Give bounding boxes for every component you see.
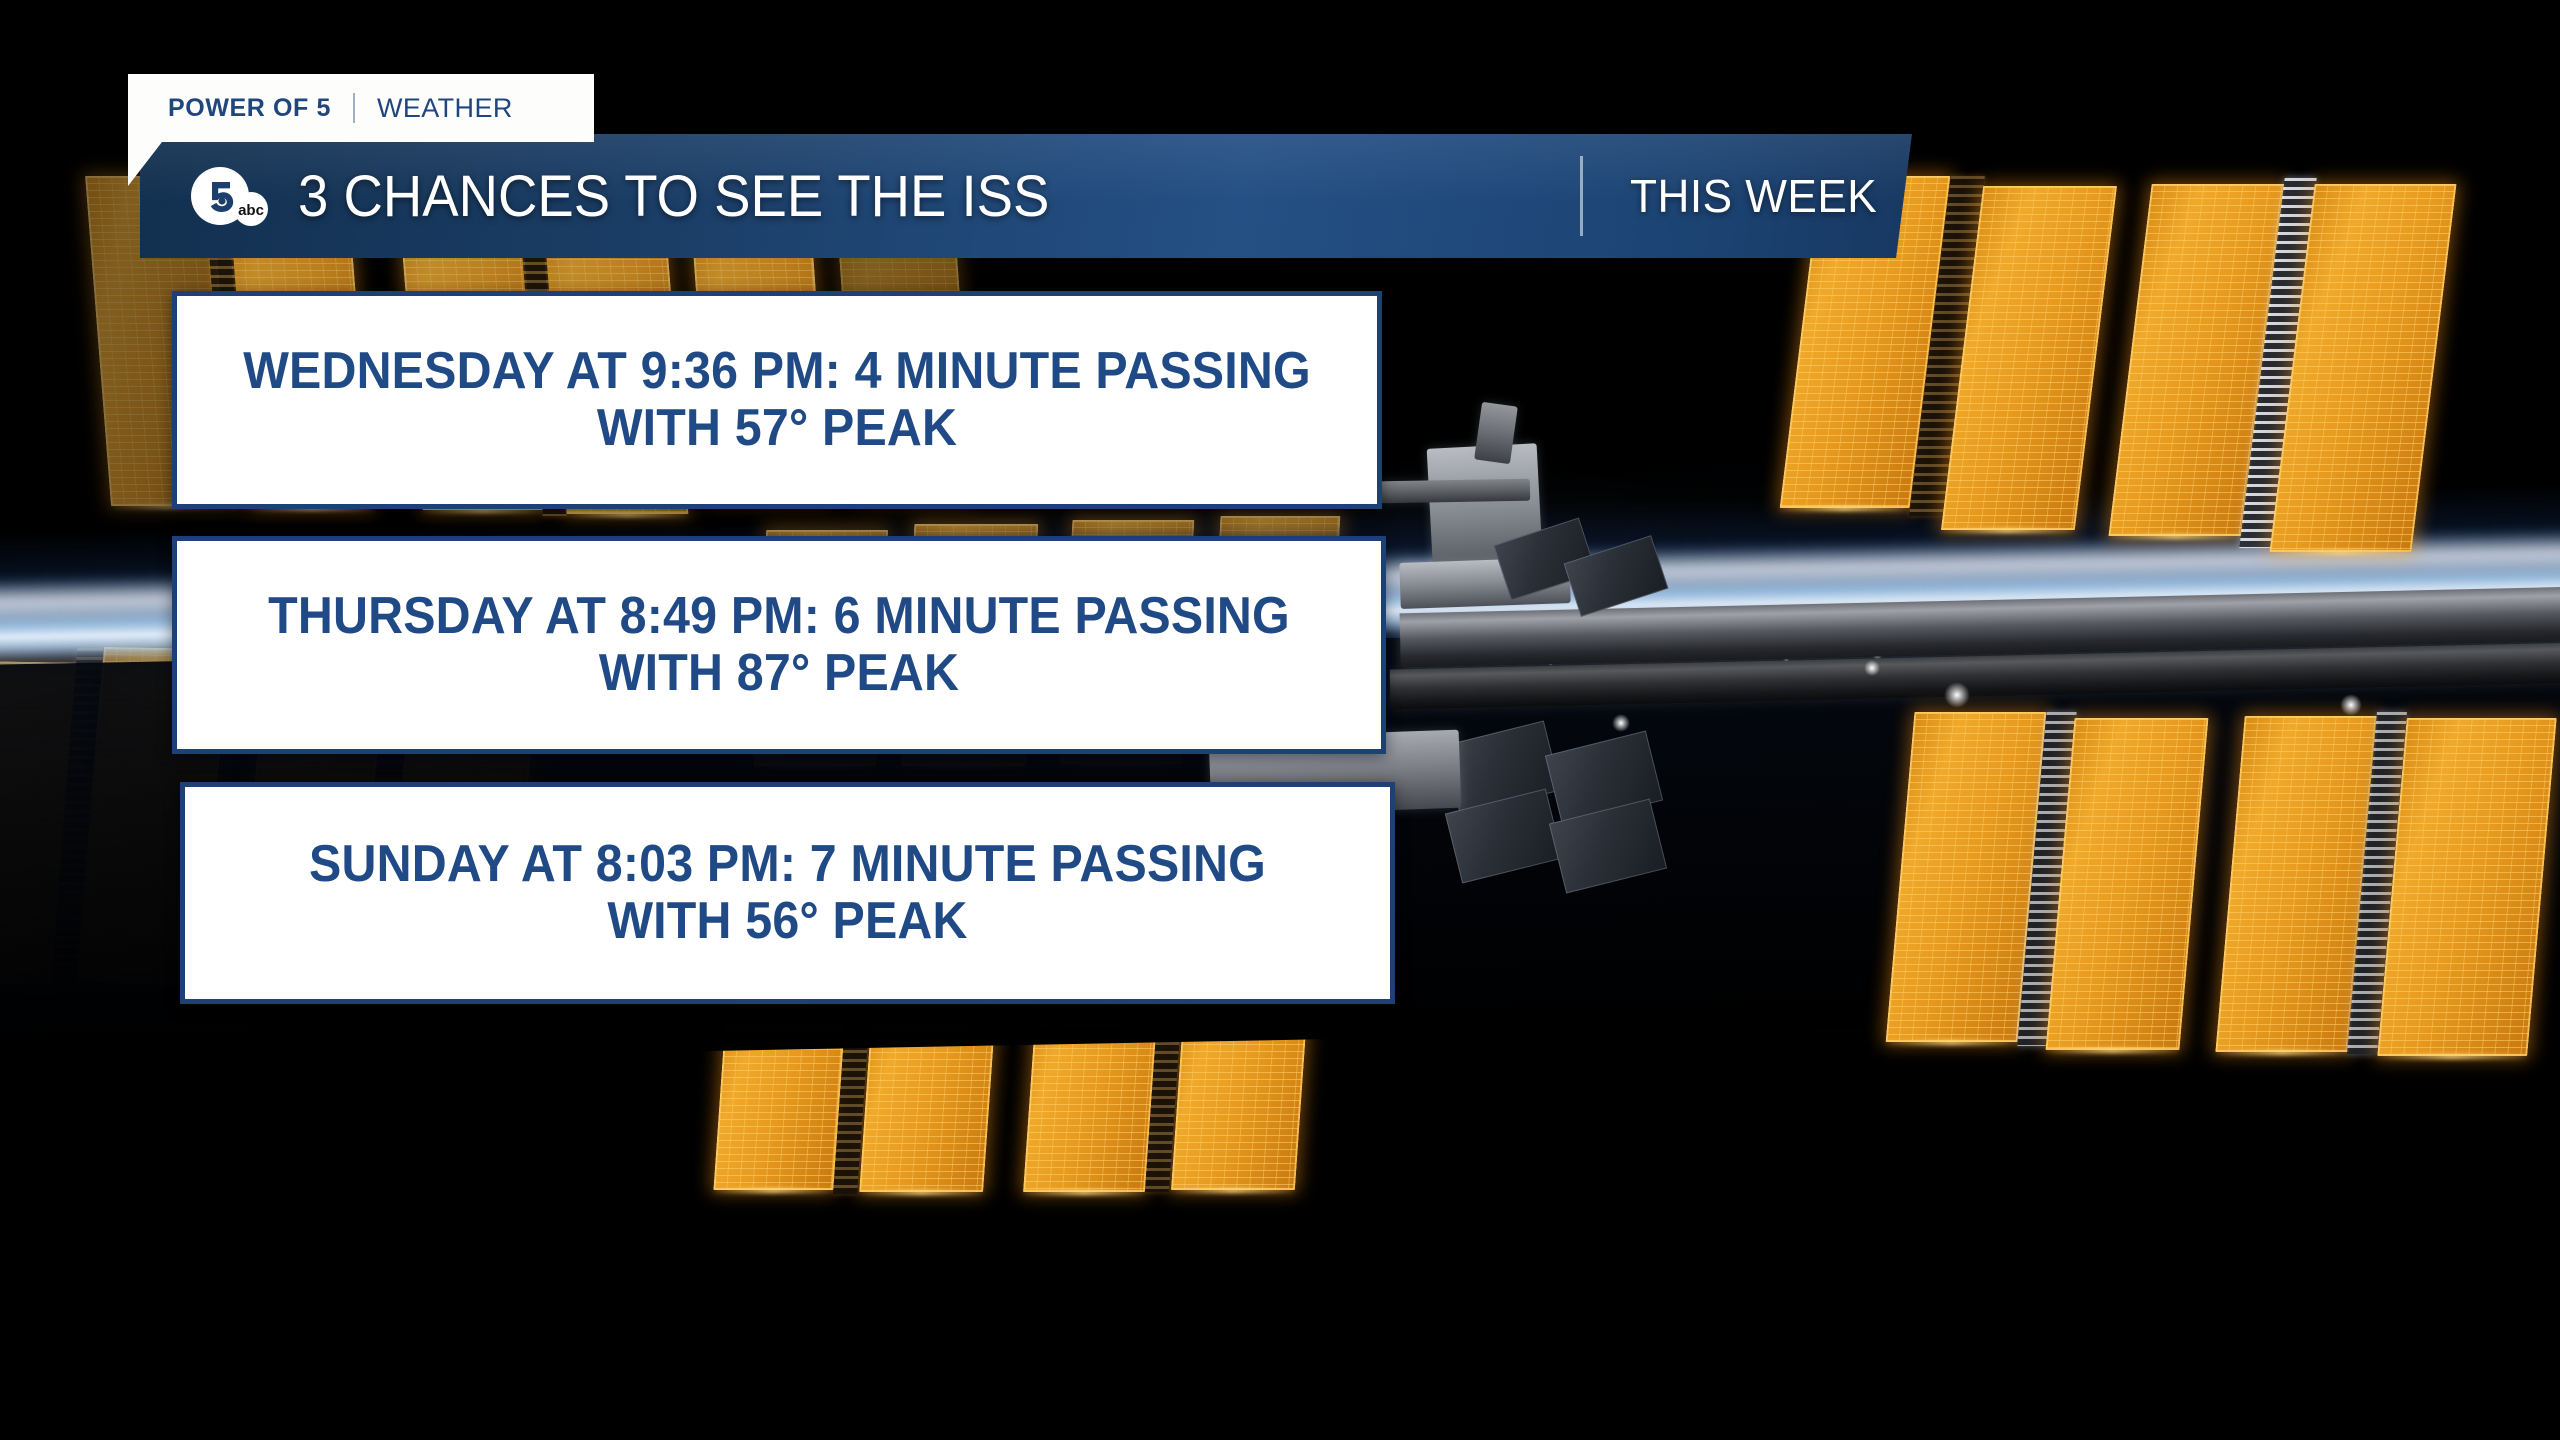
specular-highlight bbox=[1864, 660, 1880, 676]
solar-array-panel bbox=[2377, 718, 2557, 1056]
header-divider bbox=[1580, 156, 1583, 236]
header-timeframe: THIS WEEK bbox=[1630, 134, 1888, 258]
broadcast-weather-graphic: POWER OF 5 WEATHER abc 3 CHANCES TO SEE … bbox=[0, 0, 2560, 1440]
iss-pass-text: THURSDAY AT 8:49 PM: 6 MINUTE PASSING WI… bbox=[219, 588, 1339, 702]
iss-pass-card: SUNDAY AT 8:03 PM: 7 MINUTE PASSING WITH… bbox=[180, 782, 1395, 1004]
timeframe-label: THIS WEEK bbox=[1630, 169, 1877, 223]
brand-power-of-5-label: POWER OF 5 bbox=[168, 94, 331, 123]
svg-text:abc: abc bbox=[238, 202, 264, 219]
specular-highlight bbox=[2340, 694, 2362, 716]
iss-module bbox=[1380, 479, 1530, 504]
iss-pass-card: WEDNESDAY AT 9:36 PM: 4 MINUTE PASSING W… bbox=[172, 291, 1382, 509]
specular-highlight bbox=[1944, 682, 1970, 708]
iss-pass-card: THURSDAY AT 8:49 PM: 6 MINUTE PASSING WI… bbox=[172, 536, 1386, 754]
branding-tab-notch-icon bbox=[128, 142, 162, 186]
brand-weather-label: WEATHER bbox=[377, 93, 513, 124]
specular-highlight bbox=[1612, 714, 1630, 732]
iss-pass-text: WEDNESDAY AT 9:36 PM: 4 MINUTE PASSING W… bbox=[219, 343, 1335, 457]
page-title: 3 CHANCES TO SEE THE ISS bbox=[298, 163, 1049, 230]
header-bar: abc 3 CHANCES TO SEE THE ISS THIS WEEK bbox=[140, 134, 1912, 258]
wews-channel5-abc-logo-icon: abc bbox=[190, 165, 272, 227]
iss-pass-text: SUNDAY AT 8:03 PM: 7 MINUTE PASSING WITH… bbox=[227, 836, 1348, 950]
branding-tab: POWER OF 5 WEATHER bbox=[128, 74, 594, 142]
tab-divider bbox=[353, 93, 355, 123]
